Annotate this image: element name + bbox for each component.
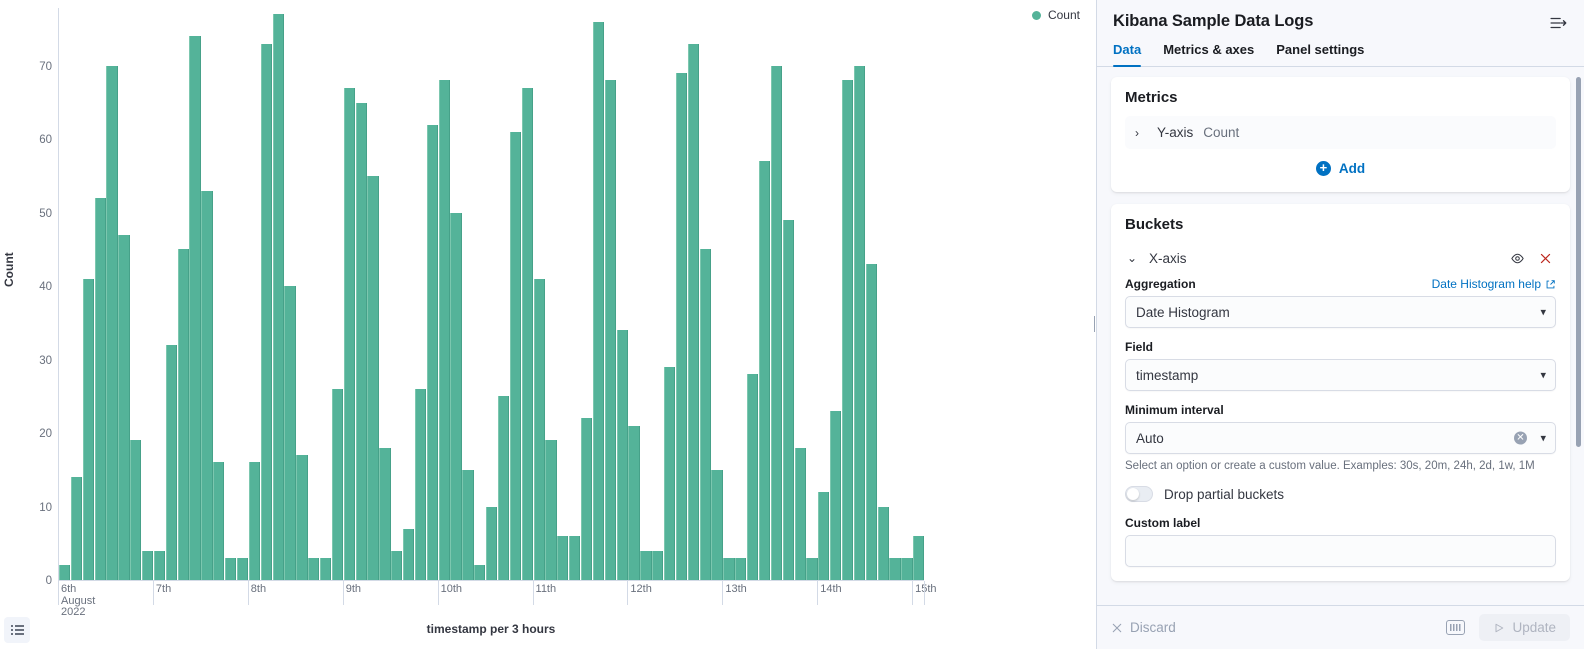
bar[interactable] <box>474 565 485 580</box>
bar[interactable] <box>415 389 426 580</box>
bar[interactable] <box>154 551 165 580</box>
bar[interactable] <box>95 198 106 580</box>
bar[interactable] <box>901 558 912 580</box>
aggregation-label: Aggregation <box>1125 277 1196 291</box>
bar[interactable] <box>878 507 889 580</box>
bar[interactable] <box>296 455 307 580</box>
bar[interactable] <box>545 440 556 580</box>
custom-label-label: Custom label <box>1125 516 1556 530</box>
x-axis-tick-label: 8th <box>248 584 266 596</box>
bar[interactable] <box>249 462 260 580</box>
close-icon <box>1111 622 1123 634</box>
drop-partial-buckets-toggle[interactable] <box>1125 486 1153 502</box>
bar[interactable] <box>166 345 177 580</box>
x-axis-ticks: 6th August 20227th8th9th10th11th12th13th… <box>58 581 924 582</box>
bar[interactable] <box>842 80 853 580</box>
editor-side-panel: Kibana Sample Data Logs Data Metrics & a… <box>1096 0 1584 649</box>
bar[interactable] <box>711 470 722 580</box>
bar[interactable] <box>806 558 817 580</box>
bar[interactable] <box>534 279 545 580</box>
panel-footer: Discard Update <box>1097 605 1584 649</box>
bar[interactable] <box>130 440 141 580</box>
bar[interactable] <box>391 551 402 580</box>
keyboard-shortcuts-icon[interactable] <box>1446 620 1465 635</box>
discard-button[interactable]: Discard <box>1111 620 1176 635</box>
chart-legend[interactable]: Count <box>1032 8 1080 22</box>
bar[interactable] <box>189 36 200 580</box>
bar[interactable] <box>320 558 331 580</box>
chevron-down-icon: ▾ <box>1540 306 1546 319</box>
bar[interactable] <box>225 558 236 580</box>
chevron-right-icon: › <box>1135 126 1147 140</box>
bar[interactable] <box>854 66 865 580</box>
bar[interactable] <box>142 551 153 580</box>
chevron-down-icon: ⌄ <box>1127 251 1139 265</box>
bar[interactable] <box>830 411 841 580</box>
bar[interactable] <box>367 176 378 580</box>
clear-icon[interactable]: ✕ <box>1514 432 1527 445</box>
bar[interactable] <box>462 470 473 580</box>
bar[interactable] <box>118 235 129 580</box>
bar[interactable] <box>735 558 746 580</box>
panel-body: Metrics › Y-axis Count + Add Buckets ⌄ X… <box>1097 67 1584 605</box>
add-metric-label: Add <box>1339 161 1365 176</box>
bar[interactable] <box>747 374 758 580</box>
y-axis-tick-label: 70 <box>6 61 52 73</box>
bar[interactable] <box>356 103 367 581</box>
metric-row-y-axis[interactable]: › Y-axis Count <box>1125 116 1556 149</box>
bar[interactable] <box>522 88 533 580</box>
bar[interactable] <box>403 529 414 580</box>
buckets-heading: Buckets <box>1125 216 1556 233</box>
metric-agg-value: Count <box>1203 125 1239 140</box>
y-axis-tick-label: 60 <box>6 134 52 146</box>
legend-toggle-button[interactable] <box>4 617 30 643</box>
y-axis-tick-label: 50 <box>6 208 52 220</box>
minimum-interval-label: Minimum interval <box>1125 403 1556 417</box>
bar[interactable] <box>237 558 248 580</box>
bar[interactable] <box>498 396 509 580</box>
bar[interactable] <box>866 264 877 580</box>
drop-partial-buckets-label: Drop partial buckets <box>1164 487 1284 502</box>
legend-color-dot <box>1032 11 1041 20</box>
bar[interactable] <box>569 536 580 580</box>
bar[interactable] <box>700 249 711 580</box>
bar[interactable] <box>652 551 663 580</box>
bar[interactable] <box>818 492 829 580</box>
y-axis-tick-label: 0 <box>6 575 52 587</box>
bar[interactable] <box>688 44 699 580</box>
bar[interactable] <box>450 213 461 580</box>
bar[interactable] <box>676 73 687 580</box>
x-axis-title: timestamp per 3 hours <box>58 622 924 636</box>
x-axis-tick-label: 10th <box>438 584 462 596</box>
y-axis-tick-label: 40 <box>6 281 52 293</box>
date-histogram-help-link[interactable]: Date Histogram help <box>1432 277 1556 291</box>
x-axis-tick-label: 12th <box>627 584 651 596</box>
tab-data[interactable]: Data <box>1113 42 1141 66</box>
bar[interactable] <box>427 125 438 580</box>
editor-tabs: Data Metrics & axes Panel settings <box>1097 32 1584 67</box>
x-axis-tick-label: 14th <box>817 584 841 596</box>
bar[interactable] <box>593 22 604 580</box>
bar[interactable] <box>581 418 592 580</box>
panel-title: Kibana Sample Data Logs <box>1113 12 1313 31</box>
update-label: Update <box>1512 620 1556 635</box>
update-button[interactable]: Update <box>1479 614 1570 641</box>
bar[interactable] <box>332 389 343 580</box>
x-axis-tick-label: 9th <box>343 584 361 596</box>
custom-label-input[interactable] <box>1125 535 1556 567</box>
bar[interactable] <box>759 161 770 580</box>
plus-icon: + <box>1316 161 1331 176</box>
bar[interactable] <box>557 536 568 580</box>
bar[interactable] <box>723 558 734 580</box>
tab-panel-settings[interactable]: Panel settings <box>1276 42 1364 66</box>
field-label: Field <box>1125 340 1556 354</box>
bar[interactable] <box>439 80 450 580</box>
chevron-down-icon: ▾ <box>1540 432 1546 445</box>
bar[interactable] <box>664 367 675 580</box>
bar[interactable] <box>771 66 782 580</box>
bar[interactable] <box>106 66 117 580</box>
drop-partial-buckets-row[interactable]: Drop partial buckets <box>1125 486 1556 502</box>
bar[interactable] <box>344 88 355 580</box>
bar[interactable] <box>617 330 628 580</box>
bar[interactable] <box>628 426 639 580</box>
bar[interactable] <box>913 536 924 580</box>
y-axis-tick-label: 10 <box>6 502 52 514</box>
x-axis-tick-label: 11th <box>533 584 557 596</box>
aggregation-select[interactable]: Date Histogram ▾ <box>1125 296 1556 328</box>
bar[interactable] <box>59 565 70 580</box>
legend-label: Count <box>1048 8 1080 22</box>
y-axis-tick-label: 30 <box>6 355 52 367</box>
bar[interactable] <box>71 477 82 580</box>
help-link-label: Date Histogram help <box>1432 277 1541 291</box>
field-select[interactable]: timestamp ▾ <box>1125 359 1556 391</box>
plot-area <box>58 8 924 581</box>
minimum-interval-hint: Select an option or create a custom valu… <box>1125 459 1556 474</box>
bar[interactable] <box>178 249 189 580</box>
panel-header: Kibana Sample Data Logs <box>1097 0 1584 32</box>
x-axis-tick-line <box>924 581 925 605</box>
bar[interactable] <box>261 44 272 580</box>
bar[interactable] <box>889 558 900 580</box>
x-axis-tick-label: 6th August 2022 <box>58 584 95 619</box>
bucket-x-axis-title: X-axis <box>1149 251 1498 266</box>
chart-pane: Count Count 010203040506070 6th August 2… <box>0 0 1096 649</box>
y-axis-tick-label: 20 <box>6 428 52 440</box>
bar[interactable] <box>201 191 212 580</box>
bar[interactable] <box>83 279 94 580</box>
x-axis-tick-label: 13th <box>722 584 746 596</box>
bar[interactable] <box>640 551 651 580</box>
bucket-x-axis-header[interactable]: ⌄ X-axis <box>1125 243 1556 277</box>
bar[interactable] <box>284 286 295 580</box>
metrics-card: Metrics › Y-axis Count + Add <box>1111 77 1570 192</box>
bar[interactable] <box>308 558 319 580</box>
y-axis-ticks: 010203040506070 <box>0 0 52 600</box>
bar[interactable] <box>783 220 794 580</box>
tab-metrics-axes[interactable]: Metrics & axes <box>1163 42 1254 66</box>
eye-icon[interactable] <box>1508 249 1526 267</box>
collapse-panel-icon[interactable] <box>1550 14 1568 32</box>
play-icon <box>1493 622 1505 634</box>
bar[interactable] <box>379 448 390 580</box>
chevron-down-icon: ▾ <box>1540 369 1546 382</box>
bar[interactable] <box>273 14 284 580</box>
minimum-interval-select[interactable]: Auto ✕ ▾ <box>1125 422 1556 454</box>
bar[interactable] <box>510 132 521 580</box>
external-link-icon <box>1545 279 1556 290</box>
metric-axis-label: Y-axis <box>1157 125 1193 140</box>
metrics-heading: Metrics <box>1125 89 1556 106</box>
minimum-interval-value: Auto <box>1136 431 1164 446</box>
bar[interactable] <box>213 462 224 580</box>
panel-scrollbar[interactable] <box>1576 77 1581 597</box>
bar[interactable] <box>795 448 806 580</box>
add-metric-button[interactable]: + Add <box>1125 149 1556 178</box>
bar[interactable] <box>486 507 497 580</box>
field-value: timestamp <box>1136 368 1198 383</box>
buckets-card: Buckets ⌄ X-axis <box>1111 204 1570 581</box>
x-axis-tick-label: 7th <box>153 584 171 596</box>
aggregation-value: Date Histogram <box>1136 305 1230 320</box>
bar[interactable] <box>605 80 616 580</box>
visualize-editor: Count Count 010203040506070 6th August 2… <box>0 0 1584 649</box>
discard-label: Discard <box>1130 620 1176 635</box>
close-icon[interactable] <box>1536 249 1554 267</box>
bar-series[interactable] <box>59 7 925 580</box>
